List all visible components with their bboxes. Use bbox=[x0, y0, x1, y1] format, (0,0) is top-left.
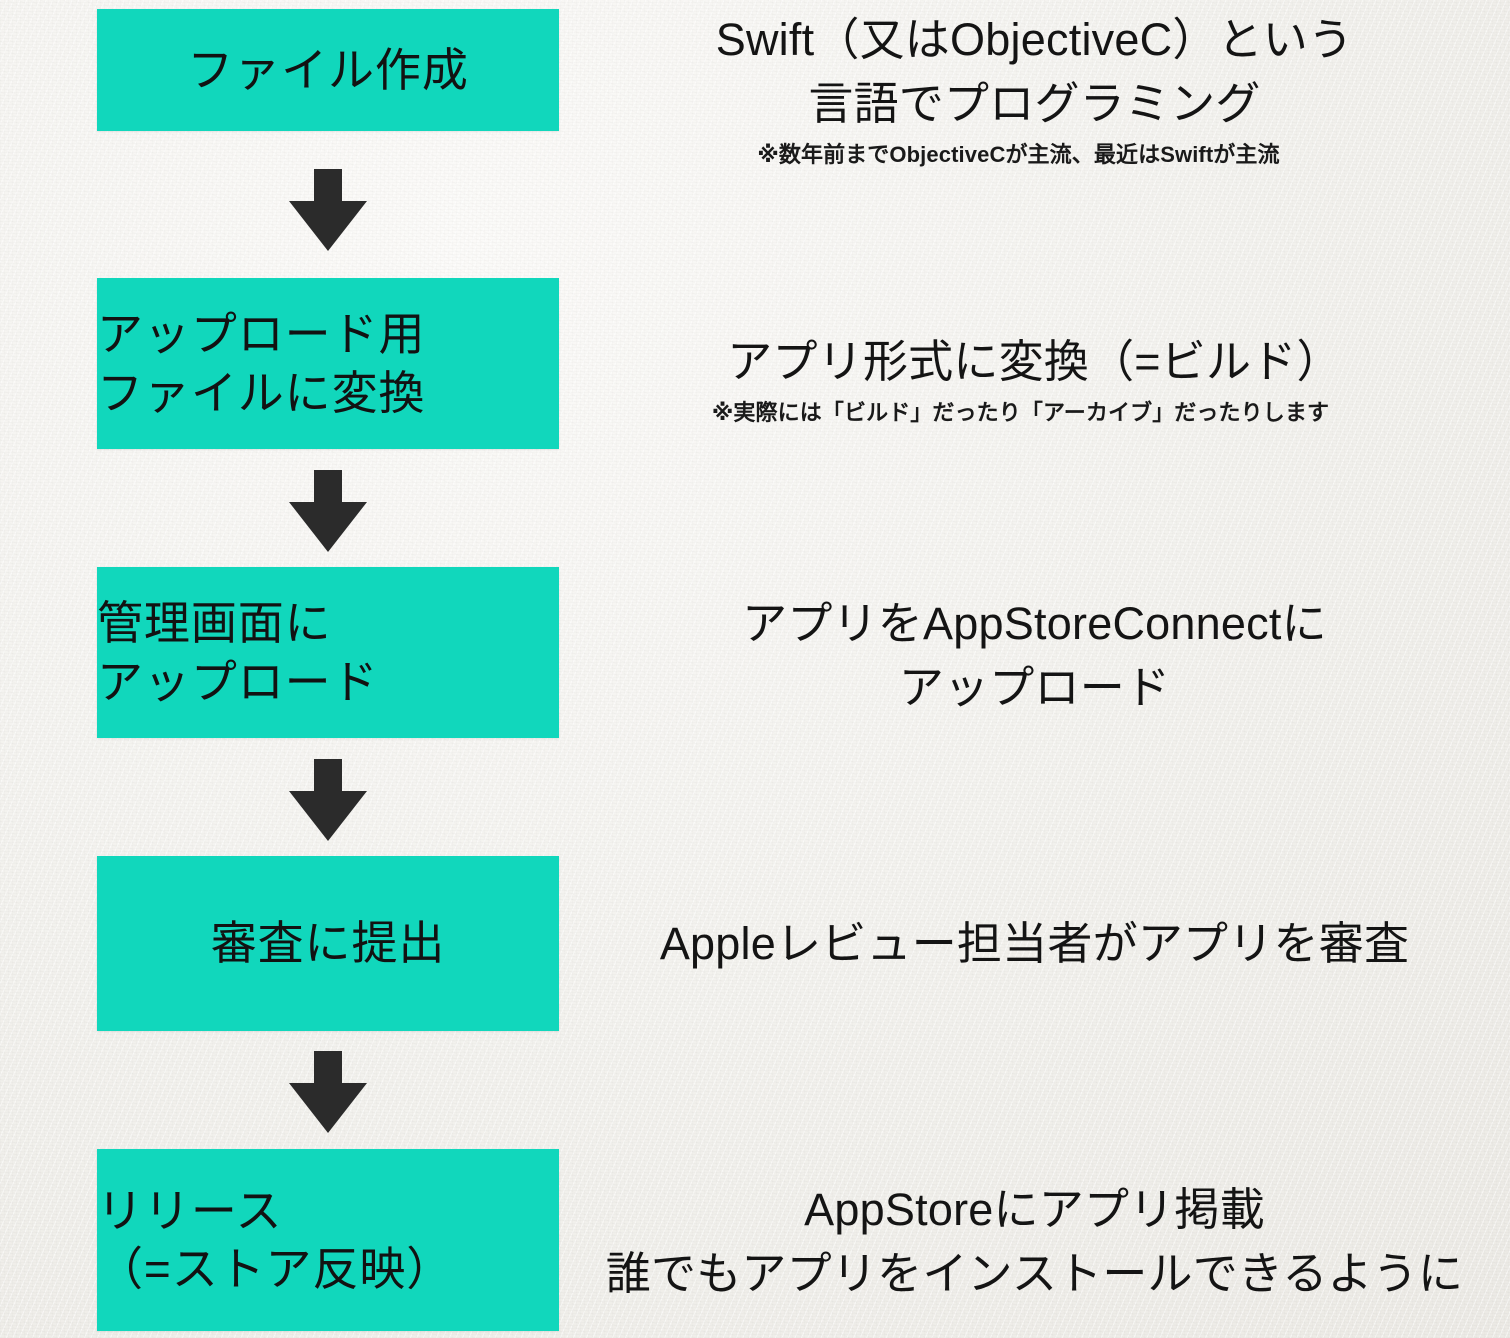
flow-step-convert-upload-file[interactable]: アップロード用 ファイルに変換 bbox=[97, 278, 559, 449]
flow-step-label: 審査に提出 bbox=[211, 914, 446, 972]
description-appstoreconnect-upload: アプリをAppStoreConnectに アップロード bbox=[559, 592, 1510, 720]
description-build: アプリ形式に変換（=ビルド） ※実際には「ビルド」だったり「アーカイブ」だったり… bbox=[559, 330, 1510, 428]
description-line: Appleレビュー担当者がアプリを審査 bbox=[559, 912, 1510, 976]
description-note: ※実際には「ビルド」だったり「アーカイブ」だったりします bbox=[545, 398, 1496, 428]
flow-step-line: （=ストア反映） bbox=[97, 1243, 453, 1295]
arrow-down-icon bbox=[289, 169, 367, 251]
arrow-down-icon bbox=[289, 1051, 367, 1133]
description-line: Swift（又はObjectiveC）という bbox=[559, 8, 1510, 72]
description-programming: Swift（又はObjectiveC）という 言語でプログラミング ※数年前まで… bbox=[559, 8, 1510, 169]
flow-step-line: アップロード用 bbox=[97, 308, 425, 360]
flow-step-label: 管理画面に アップロード bbox=[97, 594, 559, 711]
flow-step-line: 審査に提出 bbox=[211, 917, 446, 969]
slide-canvas: ファイル作成 アップロード用 ファイルに変換 bbox=[0, 0, 1510, 1338]
flow-step-release[interactable]: リリース （=ストア反映） bbox=[97, 1149, 559, 1331]
flow-step-label: アップロード用 ファイルに変換 bbox=[97, 305, 559, 422]
description-line: アプリをAppStoreConnectに bbox=[559, 592, 1510, 656]
flow-step-file-creation[interactable]: ファイル作成 bbox=[97, 9, 559, 131]
description-line: AppStoreにアプリ掲載 bbox=[559, 1178, 1510, 1242]
flow-step-line: ファイルに変換 bbox=[97, 367, 425, 419]
flow-column: ファイル作成 アップロード用 ファイルに変換 bbox=[97, 0, 559, 1338]
flow-step-line: 管理画面に bbox=[97, 597, 332, 649]
description-line: 言語でプログラミング bbox=[559, 72, 1510, 136]
flow-step-upload-to-console[interactable]: 管理画面に アップロード bbox=[97, 567, 559, 738]
flow-step-label: ファイル作成 bbox=[187, 41, 469, 99]
flow-connector-1 bbox=[97, 155, 559, 265]
flow-connector-3 bbox=[97, 755, 559, 845]
description-appstore-publish: AppStoreにアプリ掲載 誰でもアプリをインストールできるように bbox=[559, 1178, 1510, 1306]
description-line: アプリ形式に変換（=ビルド） bbox=[559, 330, 1510, 394]
flow-connector-4 bbox=[97, 1047, 559, 1137]
flow-step-line: リリース bbox=[97, 1185, 282, 1237]
description-apple-review: Appleレビュー担当者がアプリを審査 bbox=[559, 912, 1510, 976]
description-line: アップロード bbox=[559, 656, 1510, 720]
flow-step-label: リリース （=ストア反映） bbox=[97, 1182, 559, 1299]
flow-step-submit-for-review[interactable]: 審査に提出 bbox=[97, 856, 559, 1031]
description-column: Swift（又はObjectiveC）という 言語でプログラミング ※数年前まで… bbox=[559, 0, 1510, 1338]
description-line: 誰でもアプリをインストールできるように bbox=[559, 1242, 1510, 1306]
description-note: ※数年前までObjectiveCが主流、最近はSwiftが主流 bbox=[543, 140, 1494, 170]
arrow-down-icon bbox=[289, 470, 367, 552]
flow-step-line: ファイル作成 bbox=[187, 44, 469, 96]
arrow-down-icon bbox=[289, 759, 367, 841]
flow-step-line: アップロード bbox=[97, 656, 379, 708]
flow-connector-2 bbox=[97, 466, 559, 556]
